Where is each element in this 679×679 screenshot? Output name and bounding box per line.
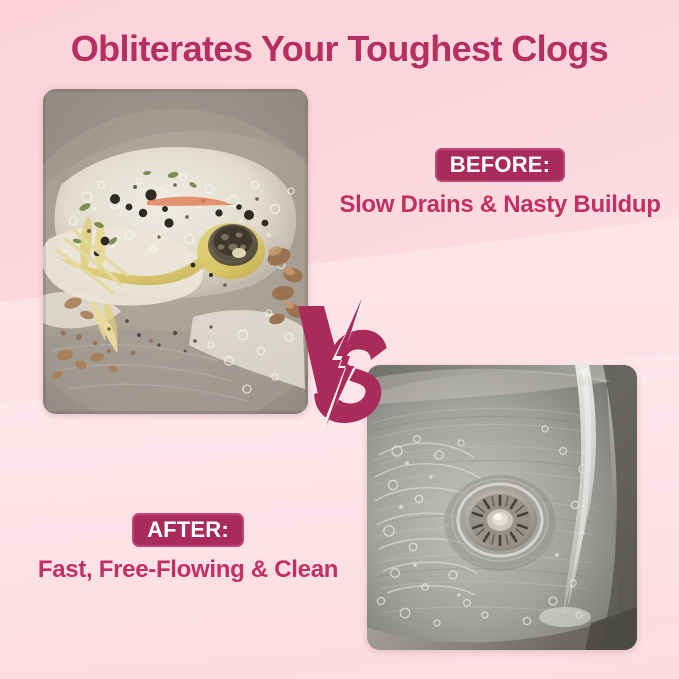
after-badge: AFTER: xyxy=(132,513,244,547)
before-badge: BEFORE: xyxy=(435,148,565,182)
before-subtitle: Slow Drains & Nasty Buildup xyxy=(330,191,670,219)
versus-emblem xyxy=(296,298,408,438)
page-title: Obliterates Your Toughest Clogs xyxy=(0,28,679,70)
after-subtitle: Fast, Free-Flowing & Clean xyxy=(18,556,358,584)
product-comparison-poster: Obliterates Your Toughest Clogs xyxy=(0,0,679,679)
after-caption: AFTER: Fast, Free-Flowing & Clean xyxy=(18,513,358,584)
before-caption: BEFORE: Slow Drains & Nasty Buildup xyxy=(330,148,670,219)
before-photo xyxy=(43,89,308,414)
